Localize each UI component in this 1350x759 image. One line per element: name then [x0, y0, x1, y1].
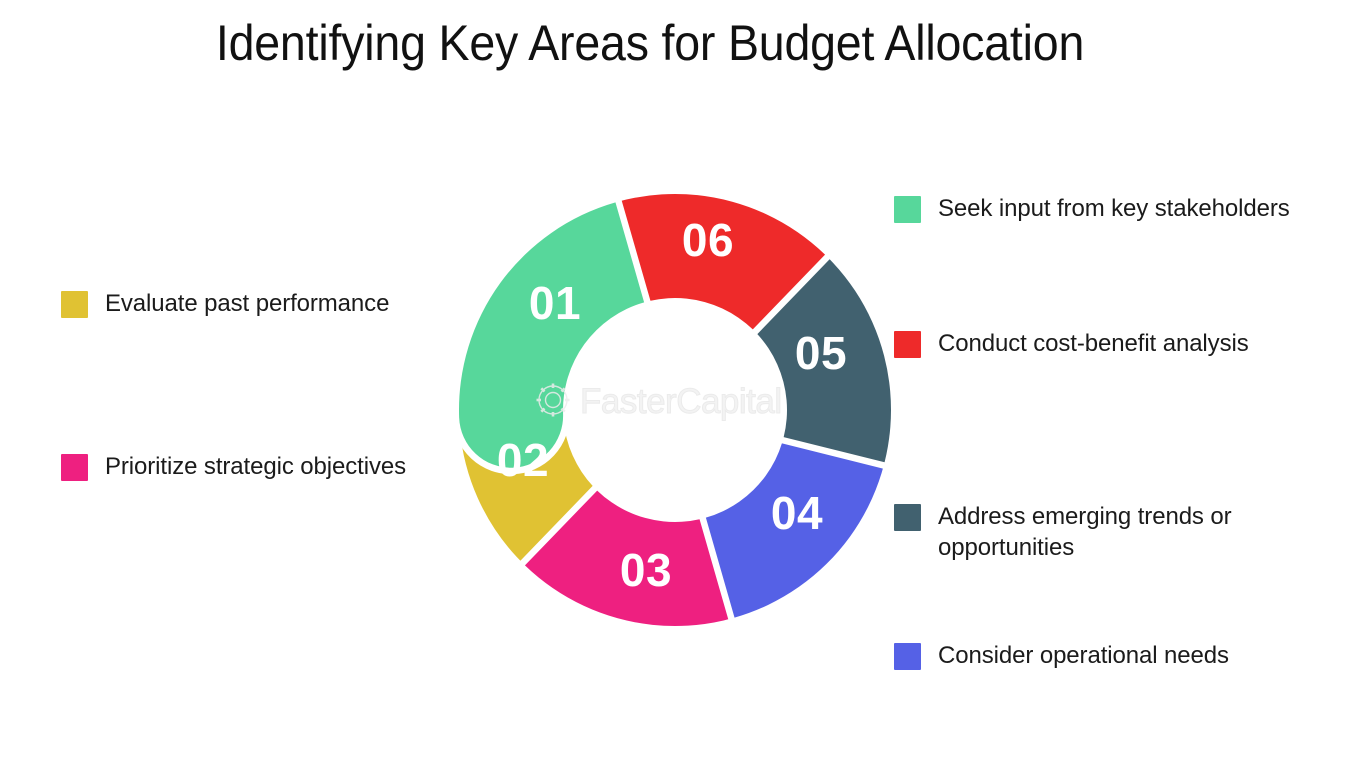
donut-cycle-chart: 010203040506 — [450, 185, 900, 635]
donut-number-05: 05 — [795, 327, 847, 379]
legend-label-02: Prioritize strategic objectives — [105, 451, 406, 482]
infographic-canvas: Identifying Key Areas for Budget Allocat… — [0, 0, 1350, 759]
legend-swatch-01 — [61, 291, 88, 318]
legend-swatch-05 — [894, 331, 921, 358]
legend-swatch-06 — [894, 196, 921, 223]
page-title: Identifying Key Areas for Budget Allocat… — [46, 14, 1255, 72]
legend-item-01[interactable]: Evaluate past performance — [61, 288, 389, 319]
donut-number-06: 06 — [682, 214, 734, 266]
legend-label-03: Consider operational needs — [938, 640, 1229, 671]
legend-item-06[interactable]: Seek input from key stakeholders — [894, 193, 1290, 224]
legend-label-04: Address emerging trends or opportunities — [938, 501, 1310, 563]
donut-number-04: 04 — [771, 487, 823, 539]
legend-label-05: Conduct cost-benefit analysis — [938, 328, 1249, 359]
legend-item-04[interactable]: Address emerging trends or opportunities — [894, 501, 1310, 563]
legend-swatch-03 — [894, 643, 921, 670]
legend-swatch-02 — [61, 454, 88, 481]
legend-item-05[interactable]: Conduct cost-benefit analysis — [894, 328, 1249, 359]
legend-label-01: Evaluate past performance — [105, 288, 389, 319]
donut-number-03: 03 — [620, 544, 672, 596]
donut-number-01: 01 — [529, 277, 581, 329]
donut-segment-group — [459, 194, 891, 626]
legend-swatch-04 — [894, 504, 921, 531]
legend-item-02[interactable]: Prioritize strategic objectives — [61, 451, 406, 482]
donut-segment-06[interactable] — [459, 202, 644, 467]
legend-label-06: Seek input from key stakeholders — [938, 193, 1290, 224]
legend-item-03[interactable]: Consider operational needs — [894, 640, 1229, 671]
donut-number-02: 02 — [497, 434, 549, 486]
